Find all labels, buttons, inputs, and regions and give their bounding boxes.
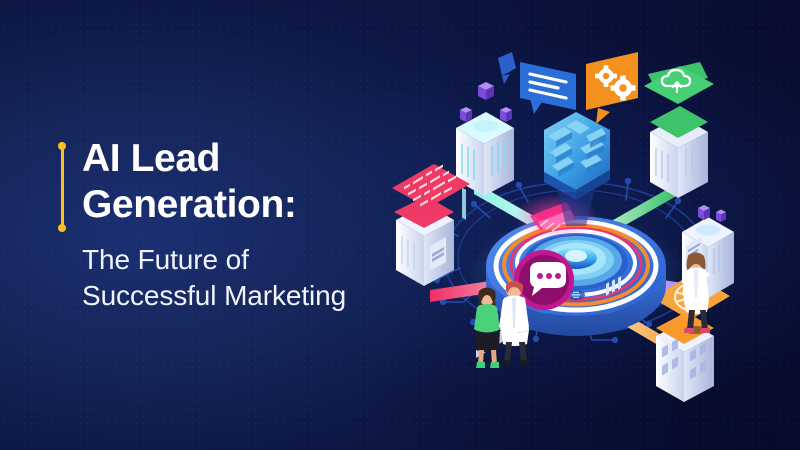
code-card-tower[interactable]	[392, 164, 470, 286]
typing-dots-icon	[537, 273, 561, 279]
cloud-card-tower[interactable]	[644, 62, 714, 198]
cloud-upload-card[interactable]	[644, 62, 714, 104]
ai-network-illustration	[380, 40, 780, 410]
vertical-accent-rail	[58, 142, 66, 232]
accent-dot-bottom-icon	[58, 224, 66, 232]
banner-root: AI Lead Generation: The Future of Succes…	[0, 0, 800, 450]
chat-bubble-gears[interactable]	[586, 52, 638, 124]
floating-shard-icon	[498, 52, 516, 84]
chat-bubble-text[interactable]	[520, 62, 576, 114]
accent-line	[61, 146, 64, 228]
